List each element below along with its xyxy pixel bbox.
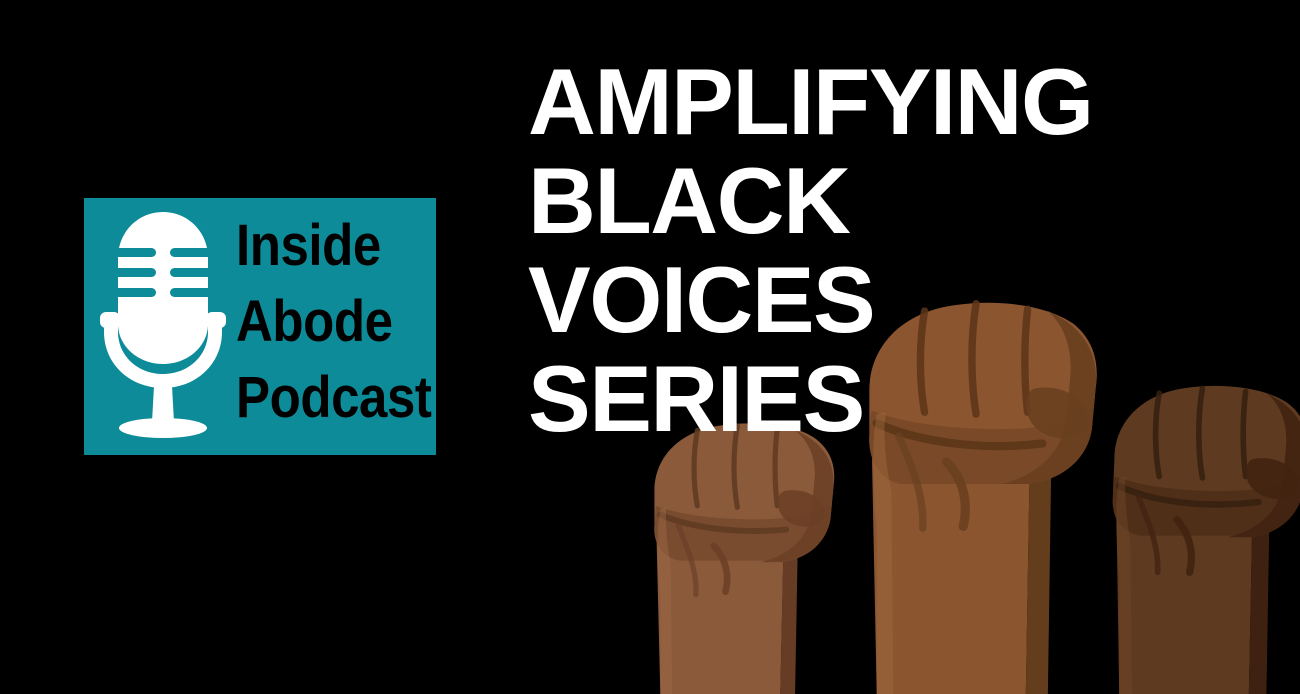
logo-line-3: Podcast [236,360,425,436]
podcast-episode-banner: Inside Abode Podcast AMPLIFYING BLACK VO… [0,0,1300,694]
logo-line-1: Inside [236,208,425,284]
page-title: AMPLIFYING BLACK VOICES SERIES [528,52,1228,448]
headline-line-3: VOICES [528,250,1228,349]
logo-wordmark: Inside Abode Podcast [236,208,425,436]
logo-line-2: Abode [236,284,425,360]
headline-line-1: AMPLIFYING [528,52,1228,151]
headline-line-4: SERIES [528,349,1228,448]
headline-line-2: BLACK [528,151,1228,250]
microphone-icon [92,206,234,446]
inside-abode-podcast-logo: Inside Abode Podcast [84,198,436,455]
